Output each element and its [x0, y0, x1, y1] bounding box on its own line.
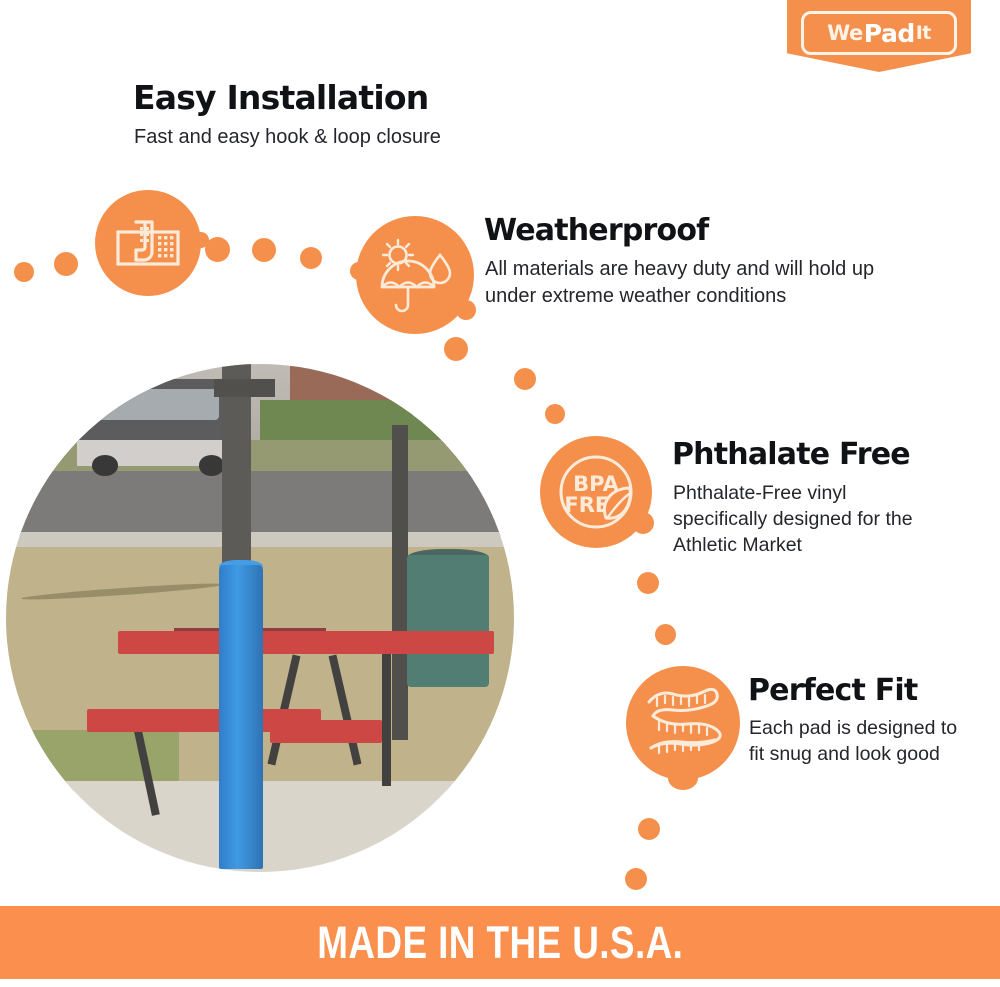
trail-dot [514, 368, 536, 390]
feature-description-weatherproof: All materials are heavy duty and will ho… [485, 256, 905, 309]
hook-and-loop-glyph [114, 214, 182, 272]
trail-dot [638, 818, 660, 840]
feature-description-phthalate-free: Phthalate-Free vinyl specifically design… [673, 481, 935, 559]
weather-glyph [374, 235, 456, 315]
made-in-usa-banner: MADE IN THE U.S.A. [0, 906, 1000, 979]
circle-lobe [350, 262, 368, 280]
hook-and-loop-icon [95, 190, 201, 296]
logo-text-pad: Pad [864, 19, 915, 48]
feature-description-easy-installation: Fast and easy hook & loop closure [134, 124, 554, 151]
made-in-usa-text: MADE IN THE U.S.A. [317, 917, 683, 969]
logo-text-it: It [916, 22, 931, 44]
trail-dot [205, 237, 230, 262]
sun-umbrella-raindrop-icon [356, 216, 474, 334]
feature-title-phthalate-free: Phthalate Free [672, 437, 910, 472]
brand-logo[interactable]: WePadIt [787, 0, 971, 72]
measuring-tape-icon [626, 666, 740, 780]
trail-dot [625, 868, 647, 890]
trail-dot [444, 337, 468, 361]
trail-dot [637, 572, 659, 594]
logo-plate: WePadIt [801, 11, 957, 55]
feature-title-weatherproof: Weatherproof [484, 213, 708, 248]
circle-lobe [668, 766, 698, 790]
logo-text-we: We [827, 21, 863, 45]
trail-dot [14, 262, 34, 282]
trail-dot [300, 247, 322, 269]
bpa-free-glyph: BPA FREE [550, 446, 642, 538]
photo-overlay [6, 364, 514, 872]
trail-dot [252, 238, 276, 262]
trail-dot [545, 404, 565, 424]
circle-lobe [456, 300, 476, 320]
feature-title-perfect-fit: Perfect Fit [748, 673, 917, 708]
bpa-free-leaf-icon: BPA FREE [540, 436, 652, 548]
measuring-tape-glyph [639, 680, 727, 766]
product-photo [6, 364, 514, 872]
infographic-page: WePadIt Easy Installation Fast and easy … [0, 0, 1000, 987]
trail-dot [54, 252, 78, 276]
trail-dot [655, 624, 676, 645]
feature-title-easy-installation: Easy Installation [133, 78, 428, 117]
circle-lobe [632, 512, 654, 534]
feature-description-perfect-fit: Each pad is designed to fit snug and loo… [749, 716, 977, 768]
